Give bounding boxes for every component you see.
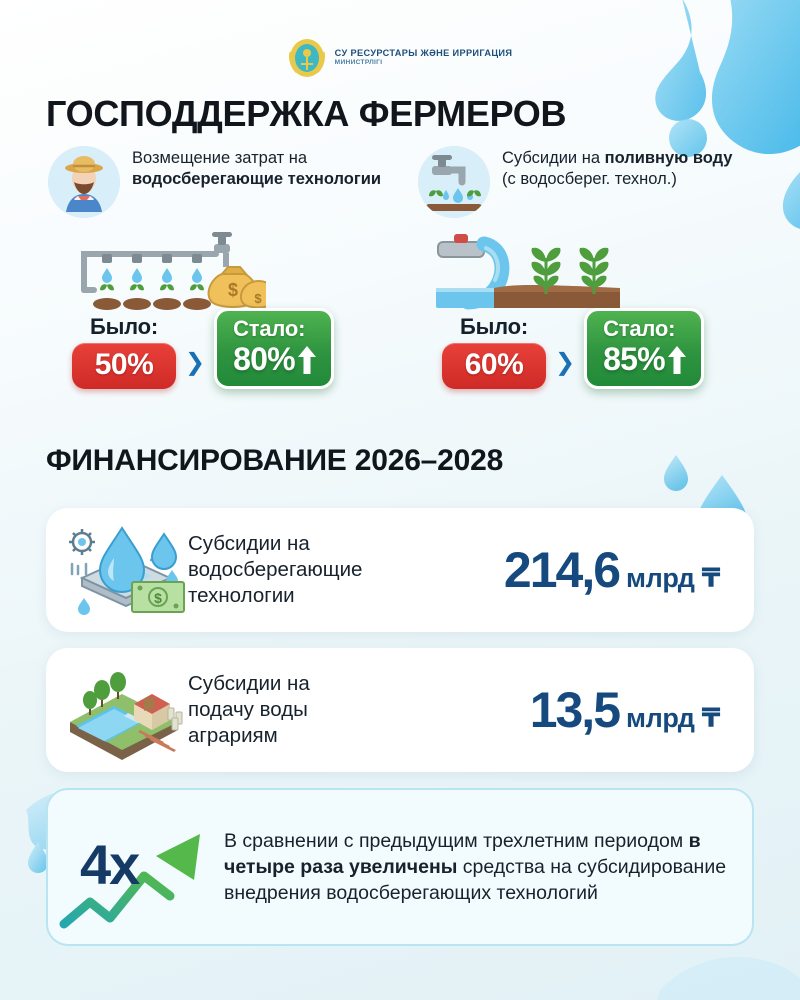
financing-title: ФИНАНСИРОВАНИЕ 2026–2028: [46, 444, 503, 478]
support-item-water-saving: Возмещение затрат на водосберегающие тех…: [48, 146, 438, 312]
multiplier-graphic: 4х: [48, 792, 224, 942]
before-group-left: Было: 50%: [72, 314, 176, 389]
before-value-badge-left: 50%: [72, 343, 176, 389]
ministry-logo: СУ РЕСУРСТАРЫ ЖӘНЕ ИРРИГАЦИЯ МИНИСТРЛІГІ: [0, 38, 800, 78]
faucet-plants-icon: [418, 146, 490, 218]
up-arrow-icon: [667, 345, 687, 375]
logo-title-line1: СУ РЕСУРСТАРЫ ЖӘНЕ ИРРИГАЦИЯ: [335, 49, 513, 59]
stats-row-irrigation-water: Было: 60% ❯ Стало: 85%: [442, 308, 704, 389]
support-item-irrigation-water: Субсидии на поливную воду (с водосберег.…: [418, 146, 800, 312]
logo-title-line2: МИНИСТРЛІГІ: [335, 60, 513, 67]
chevron-right-icon: ❯: [185, 348, 205, 377]
financing-label-1-line1: Субсидии на: [188, 532, 310, 555]
financing-amount-1: 214,6: [504, 541, 619, 599]
support-text-bold-right: поливную воду: [605, 149, 733, 167]
stats-row-water-saving: Было: 50% ❯ Стало: 80%: [72, 308, 334, 389]
after-value-left: 80%: [233, 341, 295, 378]
up-arrow-icon: [297, 345, 317, 375]
farm-canal-barn-icon: [60, 660, 188, 760]
support-text-plain-left: Возмещение затрат на: [132, 149, 307, 167]
financing-amount-2: 13,5: [530, 681, 619, 739]
support-text-bold-left: водосберегающие технологии: [132, 170, 381, 188]
support-text-plain-right: Субсидии на: [502, 149, 605, 167]
svg-text:$: $: [254, 291, 262, 306]
chevron-right-icon: ❯: [555, 348, 575, 377]
after-value-card-left: Стало: 80%: [214, 308, 334, 389]
support-text-tail-right: (с водосберег. технол.): [502, 170, 677, 188]
financing-card-value-1: 214,6 млрд ₸: [504, 541, 720, 599]
before-value-right: 60%: [465, 348, 524, 381]
financing-card-water-supply: Субсидии на подачу воды аграриям 13,5 мл…: [46, 648, 754, 772]
financing-label-1-line3: технологии: [188, 584, 295, 607]
svg-text:$: $: [154, 590, 162, 606]
before-label-left: Было:: [90, 314, 158, 340]
financing-label-1-line2: водосберегающие: [188, 558, 362, 581]
highlight-card: 4х В сравнении с предыдущим трехлетним п…: [46, 788, 754, 946]
before-label-right: Было:: [460, 314, 528, 340]
multiplier-value: 4х: [80, 832, 138, 897]
kazakhstan-emblem-icon: [288, 38, 326, 78]
before-value-left: 50%: [95, 348, 154, 381]
before-value-badge-right: 60%: [442, 343, 546, 389]
after-label-right: Стало:: [603, 316, 675, 342]
financing-label-2-line3: аграриям: [188, 724, 278, 747]
after-value-card-right: Стало: 85%: [584, 308, 704, 389]
support-label-left: Возмещение затрат на водосберегающие тех…: [132, 146, 438, 190]
infographic-page: СУ РЕСУРСТАРЫ ЖӘНЕ ИРРИГАЦИЯ МИНИСТРЛІГІ…: [0, 0, 800, 1000]
financing-card-label-1: Субсидии на водосберегающие технологии: [188, 531, 438, 609]
farmer-avatar-icon: [48, 146, 120, 218]
water-drop-gear-money-icon: $: [60, 520, 188, 620]
financing-card-value-2: 13,5 млрд ₸: [530, 681, 720, 739]
financing-label-2-line2: подачу воды: [188, 698, 308, 721]
after-value-right: 85%: [603, 341, 665, 378]
pipe-water-plants-icon: [428, 224, 800, 312]
highlight-text-part1: В сравнении с предыдущим трехлетним пери…: [224, 830, 689, 852]
drip-irrigation-money-icon: $ $: [66, 224, 438, 312]
financing-unit-2: млрд ₸: [626, 703, 720, 734]
financing-unit-1: млрд ₸: [626, 563, 720, 594]
financing-label-2-line1: Субсидии на: [188, 672, 310, 695]
money-bag: $ $: [209, 267, 266, 308]
page-title: ГОСПОДДЕРЖКА ФЕРМЕРОВ: [46, 93, 566, 135]
highlight-text: В сравнении с предыдущим трехлетним пери…: [224, 828, 752, 906]
before-group-right: Было: 60%: [442, 314, 546, 389]
svg-text:$: $: [228, 280, 238, 300]
after-label-left: Стало:: [233, 316, 305, 342]
support-label-right: Субсидии на поливную воду (с водосберег.…: [502, 146, 732, 190]
financing-card-label-2: Субсидии на подачу воды аграриям: [188, 671, 438, 749]
financing-card-water-saving: $ Субсидии на водосберегающие технологии…: [46, 508, 754, 632]
